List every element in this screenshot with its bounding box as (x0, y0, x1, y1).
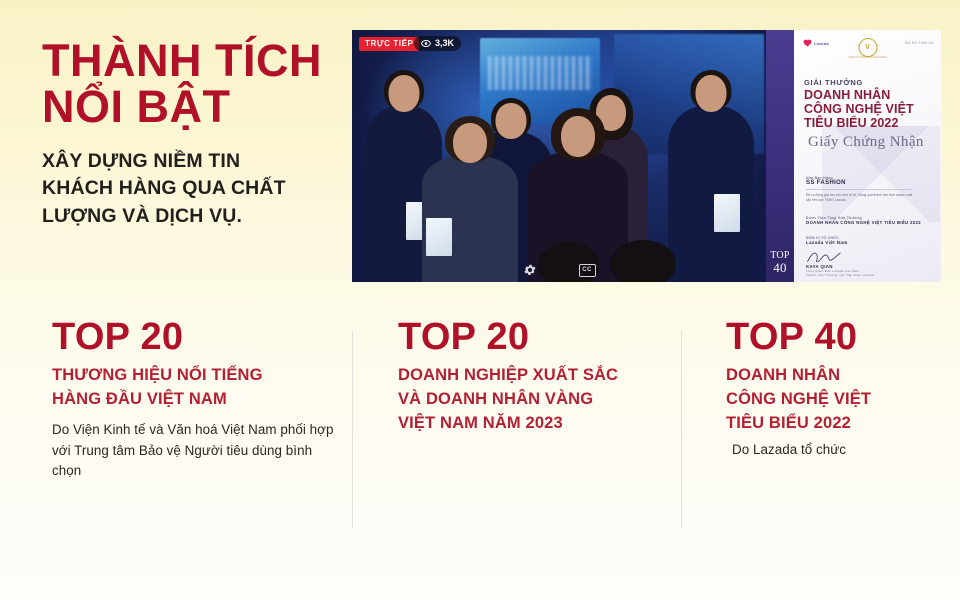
seal-letter: V (865, 44, 870, 51)
figure-certificate (426, 218, 452, 256)
figure-sash (690, 154, 701, 156)
award-title: DOANH NGHIỆP XUẤT SẮC VÀ DOANH NHÂN VÀNG… (398, 363, 673, 435)
award-rank: TOP 20 (398, 318, 673, 356)
top40-word-top: TOP (770, 250, 790, 261)
figure-head (453, 123, 487, 163)
award-title-line-3: TIÊU BIỂU 2022 (726, 411, 936, 435)
figure-head (496, 103, 527, 139)
award-title: THƯƠNG HIỆU NỔI TIẾNG HÀNG ĐẦU VIỆT NAM (52, 363, 337, 411)
award-title-line-1: THƯƠNG HIỆU NỔI TIẾNG (52, 363, 337, 387)
prize-value: DOANH NHÂN CÔNG NGHỆ VIỆT TIÊU BIỂU 2022 (806, 220, 921, 225)
subheading-line-3: LƯỢNG VÀ DỊCH VỤ. (42, 203, 352, 231)
subheading-line-2: KHÁCH HÀNG QUA CHẤT (42, 175, 352, 203)
headline-line-1: THÀNH TÍCH (42, 35, 322, 86)
figure-head (561, 116, 595, 157)
viewer-count-label: 3,3K (435, 39, 454, 48)
certificate-top40-mark: TOP 40 (768, 251, 792, 274)
award-rank: TOP 40 (726, 318, 936, 356)
awards-section: TOP 20 THƯƠNG HIỆU NỔI TIẾNG HÀNG ĐẦU VI… (0, 318, 960, 533)
signer-title-2: Thành viên Thường trực Tập đoàn Lazada (806, 273, 874, 277)
seal-caption: GIẢI THƯỞNG DOANH NHÂN (848, 56, 886, 59)
lazada-logo: Lazada (803, 39, 829, 47)
award-title-line-1: DOANH NHÂN (804, 88, 914, 102)
heart-icon (803, 39, 812, 47)
award-recipient-figure (668, 106, 754, 282)
hero-section: THÀNH TÍCH NỔI BẬT XÂY DỰNG NIỀM TIN KHÁ… (0, 0, 960, 300)
certificate-organizer-block: ĐƠN VỊ TỔ CHỨC Lazada Việt Nam (806, 236, 848, 245)
certificate-body: Lazada SO.SO 2000-00 V GIẢI THƯỞNG DOANH… (794, 30, 941, 282)
headline-line-2: NỔI BẬT (42, 84, 352, 130)
award-title: DOANH NHÂN CÔNG NGHỆ VIỆT TIÊU BIỂU 2022 (726, 363, 936, 435)
seller-name: SS FASHION (806, 180, 912, 186)
certificate-side-band (766, 30, 794, 282)
column-divider (352, 330, 353, 528)
award-title-line-2: CÔNG NGHỆ VIỆT (804, 102, 914, 116)
award-title-line-2: CÔNG NGHỆ VIỆT (726, 387, 936, 411)
award-column-3: TOP 40 DOANH NHÂN CÔNG NGHỆ VIỆT TIÊU BI… (726, 318, 936, 461)
award-title-line-1: DOANH NGHIỆP XUẤT SẮC (398, 363, 673, 387)
award-certificate-image: TOP 40 Lazada SO.SO 2000-00 (766, 30, 941, 282)
gold-award-seal: V (858, 38, 877, 57)
hero-text-block: THÀNH TÍCH NỔI BẬT XÂY DỰNG NIỀM TIN KHÁ… (42, 38, 352, 231)
figure-certificate (714, 194, 740, 232)
award-title-line-3: VIỆT NAM NĂM 2023 (398, 411, 673, 435)
certificate-heading-script: Giấy Chứng Nhận (808, 134, 924, 151)
hero-subheading: XÂY DỰNG NIỀM TIN KHÁCH HÀNG QUA CHẤT LƯ… (42, 148, 352, 231)
top40-word-bottom: 40 (768, 261, 792, 274)
award-note: Do Lazada tổ chức (732, 440, 936, 460)
figure-sash (446, 190, 457, 192)
awards-ceremony-video-still[interactable]: TRỰC TIẾP 3,3K CC (352, 30, 766, 282)
award-column-2: TOP 20 DOANH NGHIỆP XUẤT SẮC VÀ DOANH NH… (398, 318, 673, 435)
award-column-1: TOP 20 THƯƠNG HIỆU NỔI TIẾNG HÀNG ĐẦU VI… (52, 318, 337, 481)
settings-gear-icon[interactable] (523, 263, 537, 277)
subheading-line-1: XÂY DỰNG NIỀM TIN (42, 148, 352, 176)
closed-captions-icon[interactable]: CC (579, 264, 596, 277)
viewer-count-pill: 3,3K (414, 36, 461, 51)
eye-icon (421, 40, 431, 47)
poster-page: THÀNH TÍCH NỔI BẬT XÂY DỰNG NIỀM TIN KHÁ… (0, 0, 960, 600)
certificate-seller-block: Nhà Bán Hàng SS FASHION (806, 176, 912, 192)
video-player-controls: CC (352, 263, 766, 277)
certificate-award-title: DOANH NHÂN CÔNG NGHỆ VIỆT TIÊU BIỂU 2022 (804, 88, 914, 130)
award-title-line-2: HÀNG ĐẦU VIỆT NAM (52, 387, 337, 411)
figure-sash (382, 154, 393, 156)
certificate-signer-block: KAYA QIAN Tổng Giám Đốc Lazada Việt Nam … (806, 264, 874, 277)
certificate-description: Đã có đóng góp lớn cho kinh tế số, thông… (806, 193, 916, 203)
award-title-line-2: VÀ DOANH NHÂN VÀNG (398, 387, 673, 411)
award-title-line-1: DOANH NHÂN (726, 363, 936, 387)
award-rank: TOP 20 (52, 318, 337, 356)
certificate-code: SO.SO 2000-00 (905, 41, 933, 45)
certificate-award-label: GIẢI THƯỞNG (804, 78, 863, 87)
live-badge: TRỰC TIẾP (359, 37, 419, 51)
page-title: THÀNH TÍCH NỔI BẬT (42, 38, 352, 130)
lazada-wordmark: Lazada (814, 41, 829, 46)
award-title-line-3: TIÊU BIỂU 2022 (804, 116, 914, 130)
column-divider (681, 330, 682, 528)
figure-head (696, 75, 727, 112)
organizer-value: Lazada Việt Nam (806, 240, 848, 245)
stage-screen-graphic (488, 56, 592, 90)
figure-head (389, 75, 420, 112)
media-strip: TRỰC TIẾP 3,3K CC (352, 30, 941, 282)
certificate-prize-block: Được Trao Tặng Giải Thưởng DOANH NHÂN CÔ… (806, 216, 921, 225)
award-note: Do Viện Kinh tế và Văn hoá Việt Nam phối… (52, 420, 337, 481)
divider-rule (806, 189, 912, 190)
